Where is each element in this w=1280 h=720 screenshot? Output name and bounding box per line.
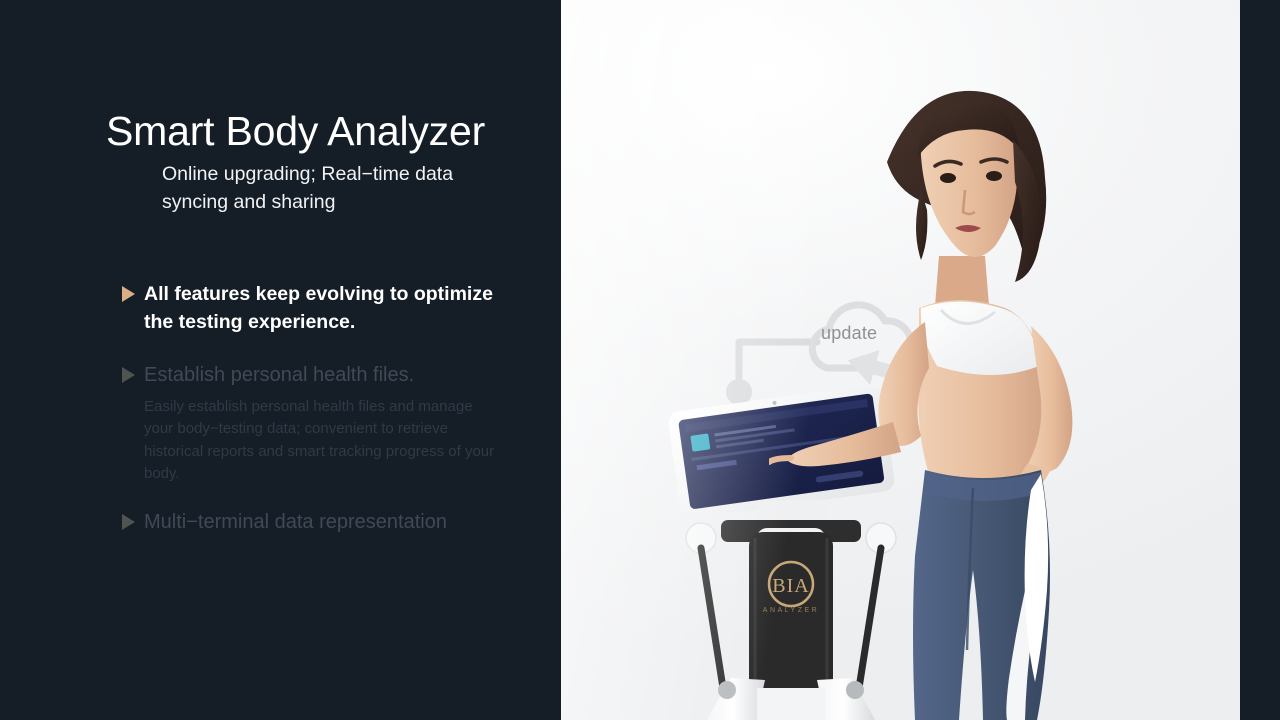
bullet-label: Multi−terminal data representation <box>144 508 447 537</box>
page-subtitle: Online upgrading; Real−time data syncing… <box>162 160 492 217</box>
model-hand-left <box>787 422 901 466</box>
fitness-model-photo <box>769 70 1189 720</box>
list-item[interactable]: All features keep evolving to optimize t… <box>122 280 522 337</box>
text-panel: Smart Body Analyzer Online upgrading; Re… <box>0 0 561 720</box>
triangle-bullet-dim-icon <box>122 514 135 530</box>
page-title: Smart Body Analyzer <box>106 108 485 155</box>
triangle-bullet-dim-icon <box>122 367 135 383</box>
model-sports-bra <box>921 301 1039 375</box>
presentation-slide: Smart Body Analyzer Online upgrading; Re… <box>0 0 1280 720</box>
bullet-description: Easily establish personal health files a… <box>144 396 504 486</box>
list-item[interactable]: Establish personal health files. Easily … <box>122 361 522 486</box>
bullet-list: All features keep evolving to optimize t… <box>122 280 522 537</box>
triangle-bullet-active-icon <box>122 286 135 302</box>
spacer <box>122 337 522 361</box>
product-photo-panel: update <box>561 0 1240 720</box>
list-item[interactable]: Multi−terminal data representation <box>122 508 522 537</box>
right-edge-strip <box>1240 0 1280 720</box>
bullet-label: Establish personal health files. <box>144 361 414 390</box>
bullet-label: All features keep evolving to optimize t… <box>144 280 522 337</box>
spacer <box>122 486 522 508</box>
